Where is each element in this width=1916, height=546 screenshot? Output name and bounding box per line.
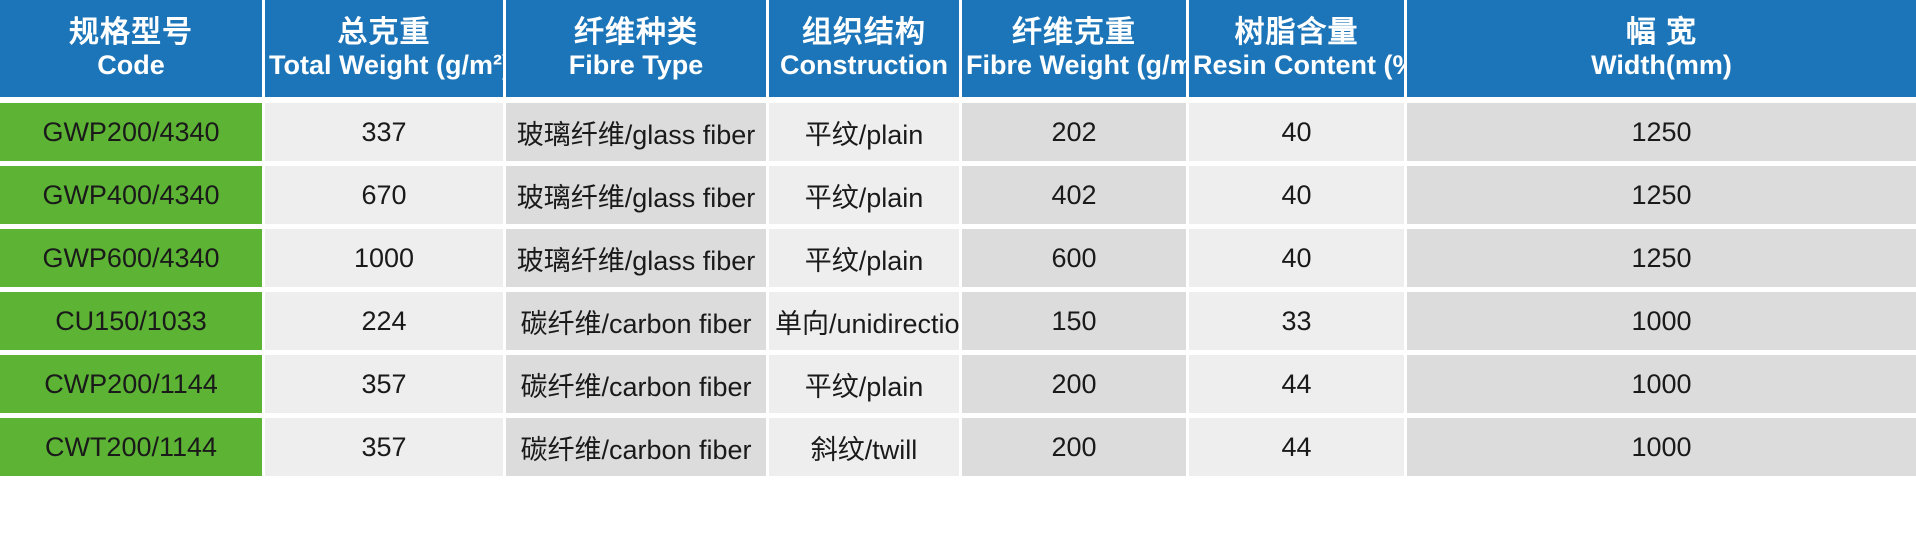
cell-width: 1000: [1407, 418, 1916, 481]
cell-code: CWT200/1144: [0, 418, 265, 481]
column-header-fibre-weight-cn: 纤维克重: [966, 15, 1182, 50]
cell-fibre-weight: 200: [962, 418, 1189, 481]
column-header-construction: 组织结构 Construction: [769, 0, 962, 103]
cell-code: GWP400/4340: [0, 166, 265, 229]
column-header-code-en: Code: [4, 50, 258, 82]
column-header-resin-content-cn: 树脂含量: [1193, 15, 1400, 50]
cell-width: 1000: [1407, 355, 1916, 418]
cell-total-weight: 224: [265, 292, 506, 355]
cell-fibre-weight: 402: [962, 166, 1189, 229]
column-header-fibre-weight-en: Fibre Weight (g/m²): [966, 50, 1182, 82]
column-header-fibre-type-en: Fibre Type: [510, 50, 762, 82]
cell-construction: 平纹/plain: [769, 166, 962, 229]
cell-fibre-weight: 600: [962, 229, 1189, 292]
table-row: GWP400/4340 670 玻璃纤维/glass fiber 平纹/plai…: [0, 166, 1916, 229]
header-row: 规格型号 Code 总克重 Total Weight (g/m²) 纤维种类 F…: [0, 0, 1916, 103]
table-header: 规格型号 Code 总克重 Total Weight (g/m²) 纤维种类 F…: [0, 0, 1916, 103]
column-header-total-weight-en: Total Weight (g/m²): [269, 50, 499, 82]
cell-fibre-weight: 200: [962, 355, 1189, 418]
cell-resin-content: 44: [1189, 418, 1407, 481]
table-row: CU150/1033 224 碳纤维/carbon fiber 单向/unidi…: [0, 292, 1916, 355]
cell-total-weight: 1000: [265, 229, 506, 292]
table-body: GWP200/4340 337 玻璃纤维/glass fiber 平纹/plai…: [0, 103, 1916, 481]
column-header-fibre-type: 纤维种类 Fibre Type: [506, 0, 769, 103]
cell-width: 1250: [1407, 166, 1916, 229]
cell-resin-content: 40: [1189, 103, 1407, 166]
cell-width: 1250: [1407, 103, 1916, 166]
cell-fibre-type: 碳纤维/carbon fiber: [506, 292, 769, 355]
cell-total-weight: 357: [265, 418, 506, 481]
cell-width: 1250: [1407, 229, 1916, 292]
cell-fibre-weight: 202: [962, 103, 1189, 166]
cell-fibre-type: 玻璃纤维/glass fiber: [506, 103, 769, 166]
table-row: GWP600/4340 1000 玻璃纤维/glass fiber 平纹/pla…: [0, 229, 1916, 292]
column-header-total-weight-cn: 总克重: [269, 15, 499, 50]
column-header-fibre-type-cn: 纤维种类: [510, 15, 762, 50]
column-header-resin-content: 树脂含量 Resin Content (%): [1189, 0, 1407, 103]
cell-fibre-type: 玻璃纤维/glass fiber: [506, 229, 769, 292]
table-row: CWT200/1144 357 碳纤维/carbon fiber 斜纹/twil…: [0, 418, 1916, 481]
cell-total-weight: 337: [265, 103, 506, 166]
cell-code: GWP600/4340: [0, 229, 265, 292]
cell-resin-content: 33: [1189, 292, 1407, 355]
cell-resin-content: 40: [1189, 166, 1407, 229]
cell-width: 1000: [1407, 292, 1916, 355]
product-specification-table: 规格型号 Code 总克重 Total Weight (g/m²) 纤维种类 F…: [0, 0, 1916, 481]
cell-fibre-type: 碳纤维/carbon fiber: [506, 355, 769, 418]
cell-code: CWP200/1144: [0, 355, 265, 418]
cell-total-weight: 670: [265, 166, 506, 229]
cell-resin-content: 40: [1189, 229, 1407, 292]
cell-total-weight: 357: [265, 355, 506, 418]
column-header-code: 规格型号 Code: [0, 0, 265, 103]
column-header-resin-content-en: Resin Content (%): [1193, 50, 1400, 82]
cell-fibre-type: 玻璃纤维/glass fiber: [506, 166, 769, 229]
column-header-width: 幅 宽 Width(mm): [1407, 0, 1916, 103]
column-header-construction-cn: 组织结构: [773, 15, 955, 50]
cell-code: GWP200/4340: [0, 103, 265, 166]
cell-construction: 平纹/plain: [769, 103, 962, 166]
cell-fibre-weight: 150: [962, 292, 1189, 355]
column-header-width-en: Width(mm): [1411, 50, 1912, 82]
cell-construction: 斜纹/twill: [769, 418, 962, 481]
column-header-code-cn: 规格型号: [4, 15, 258, 50]
column-header-width-cn: 幅 宽: [1411, 15, 1912, 50]
cell-construction: 平纹/plain: [769, 355, 962, 418]
table-row: CWP200/1144 357 碳纤维/carbon fiber 平纹/plai…: [0, 355, 1916, 418]
cell-construction: 平纹/plain: [769, 229, 962, 292]
cell-construction: 单向/unidirectional: [769, 292, 962, 355]
cell-fibre-type: 碳纤维/carbon fiber: [506, 418, 769, 481]
column-header-total-weight: 总克重 Total Weight (g/m²): [265, 0, 506, 103]
table-row: GWP200/4340 337 玻璃纤维/glass fiber 平纹/plai…: [0, 103, 1916, 166]
column-header-construction-en: Construction: [773, 50, 955, 82]
cell-code: CU150/1033: [0, 292, 265, 355]
column-header-fibre-weight: 纤维克重 Fibre Weight (g/m²): [962, 0, 1189, 103]
cell-resin-content: 44: [1189, 355, 1407, 418]
